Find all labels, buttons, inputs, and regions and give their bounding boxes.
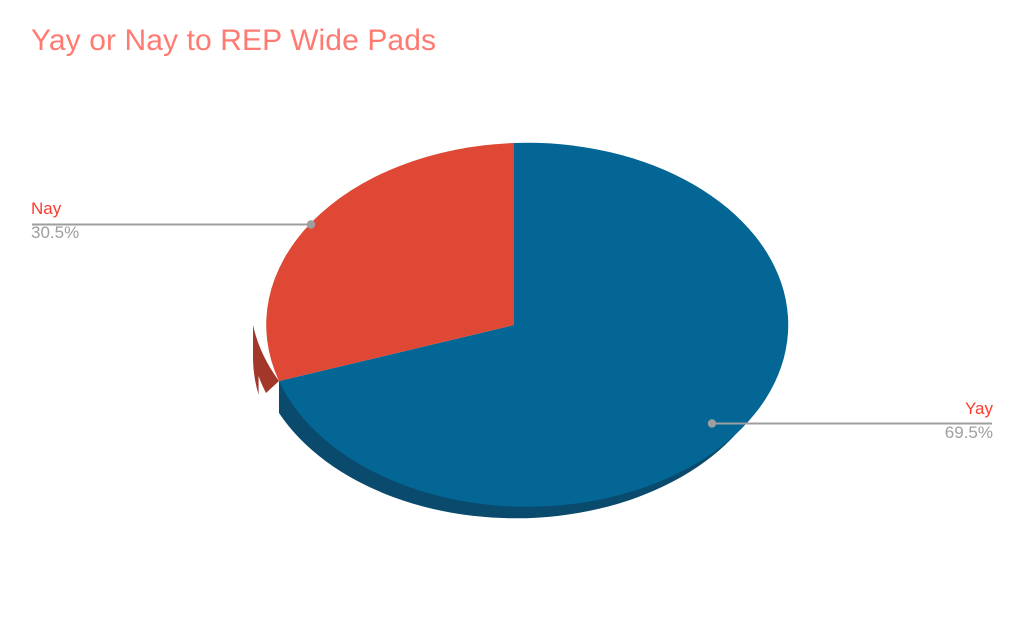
slice-label-yay: Yay [945,400,993,420]
slice-value-yay: 69.5% [945,420,993,441]
callout-nay: Nay 30.5% [31,200,79,241]
callout-yay: Yay 69.5% [945,400,993,441]
pie-chart-container: Yay or Nay to REP Wide Pads [0,0,1024,633]
slice-label-nay: Nay [31,200,79,220]
slice-value-nay: 30.5% [31,220,79,241]
pie-graphic [0,0,1024,633]
